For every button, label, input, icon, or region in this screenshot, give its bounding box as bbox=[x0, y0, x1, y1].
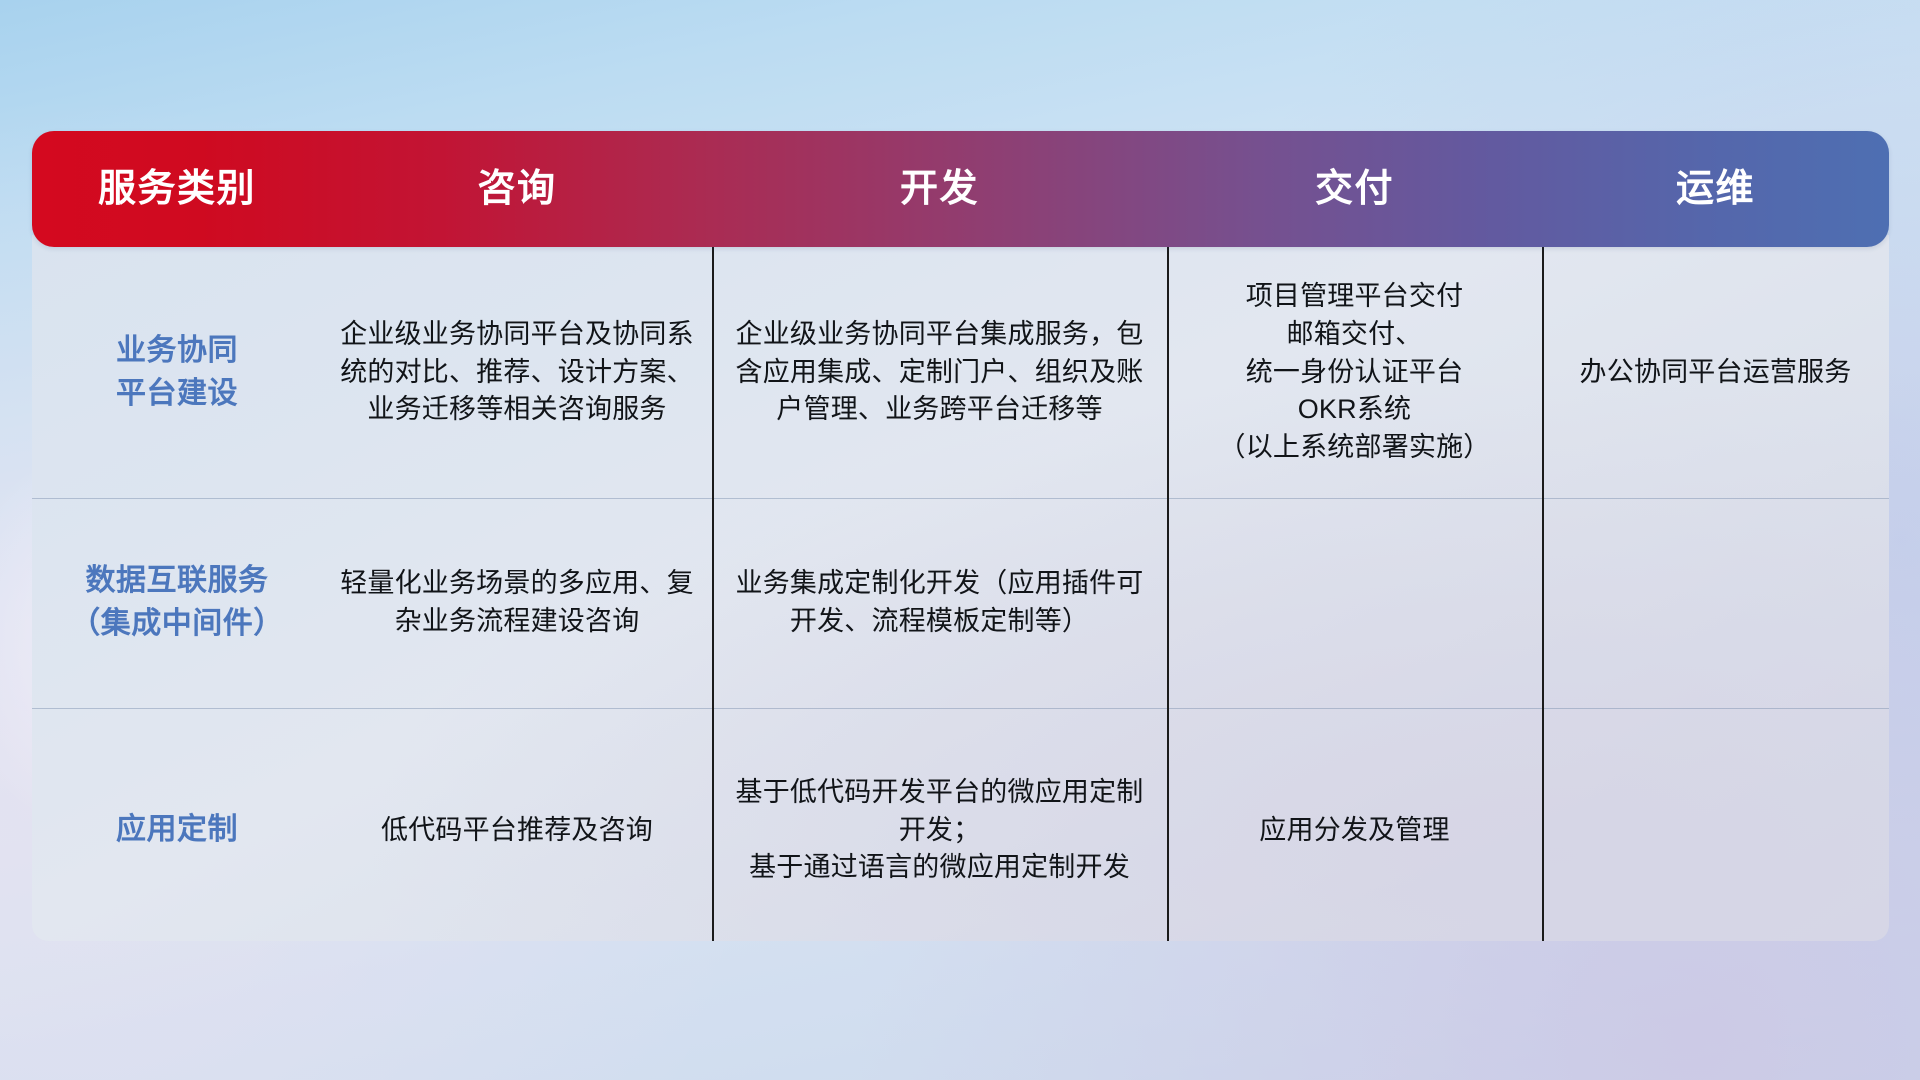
column-header-category: 服务类别 bbox=[32, 170, 322, 208]
cell-consulting: 低代码平台推荐及咨询 bbox=[381, 812, 653, 850]
cell-operations: 办公协同平台运营服务 bbox=[1580, 354, 1852, 392]
row-category-label: 业务协同 平台建设 bbox=[116, 330, 238, 415]
row-category-label: 应用定制 bbox=[116, 809, 238, 852]
column-header-delivery: 交付 bbox=[1167, 170, 1542, 208]
cell-delivery: 应用分发及管理 bbox=[1259, 812, 1449, 850]
cell-consulting: 企业级业务协同平台及协同系统的对比、推荐、设计方案、业务迁移等相关咨询服务 bbox=[336, 316, 698, 429]
column-header-consulting: 咨询 bbox=[322, 170, 712, 208]
column-header-development: 开发 bbox=[712, 170, 1167, 208]
cell-consulting: 轻量化业务场景的多应用、复杂业务流程建设咨询 bbox=[336, 565, 698, 641]
cell-development: 企业级业务协同平台集成服务，包含应用集成、定制门户、组织及账户管理、业务跨平台迁… bbox=[726, 316, 1153, 429]
table-row: 数据互联服务 （集成中间件） 轻量化业务场景的多应用、复杂业务流程建设咨询 业务… bbox=[32, 498, 1889, 708]
table-row: 应用定制 低代码平台推荐及咨询 基于低代码开发平台的微应用定制开发； 基于通过语… bbox=[32, 708, 1889, 941]
column-header-operations: 运维 bbox=[1542, 170, 1889, 208]
cell-delivery: 项目管理平台交付 邮箱交付、 统一身份认证平台 OKR系统 （以上系统部署实施） bbox=[1219, 278, 1491, 467]
table-header-row: 服务类别 咨询 开发 交付 运维 bbox=[32, 131, 1889, 247]
cell-development: 基于低代码开发平台的微应用定制开发； 基于通过语言的微应用定制开发 bbox=[726, 774, 1153, 887]
row-category-label: 数据互联服务 （集成中间件） bbox=[70, 560, 284, 645]
table-body: 业务协同 平台建设 企业级业务协同平台及协同系统的对比、推荐、设计方案、业务迁移… bbox=[32, 235, 1889, 941]
table-row: 业务协同 平台建设 企业级业务协同平台及协同系统的对比、推荐、设计方案、业务迁移… bbox=[32, 247, 1889, 498]
cell-development: 业务集成定制化开发（应用插件可开发、流程模板定制等） bbox=[726, 565, 1153, 641]
service-matrix-table: 服务类别 咨询 开发 交付 运维 业务协同 平台建设 企业级业务协同平台及协同系… bbox=[32, 131, 1889, 953]
